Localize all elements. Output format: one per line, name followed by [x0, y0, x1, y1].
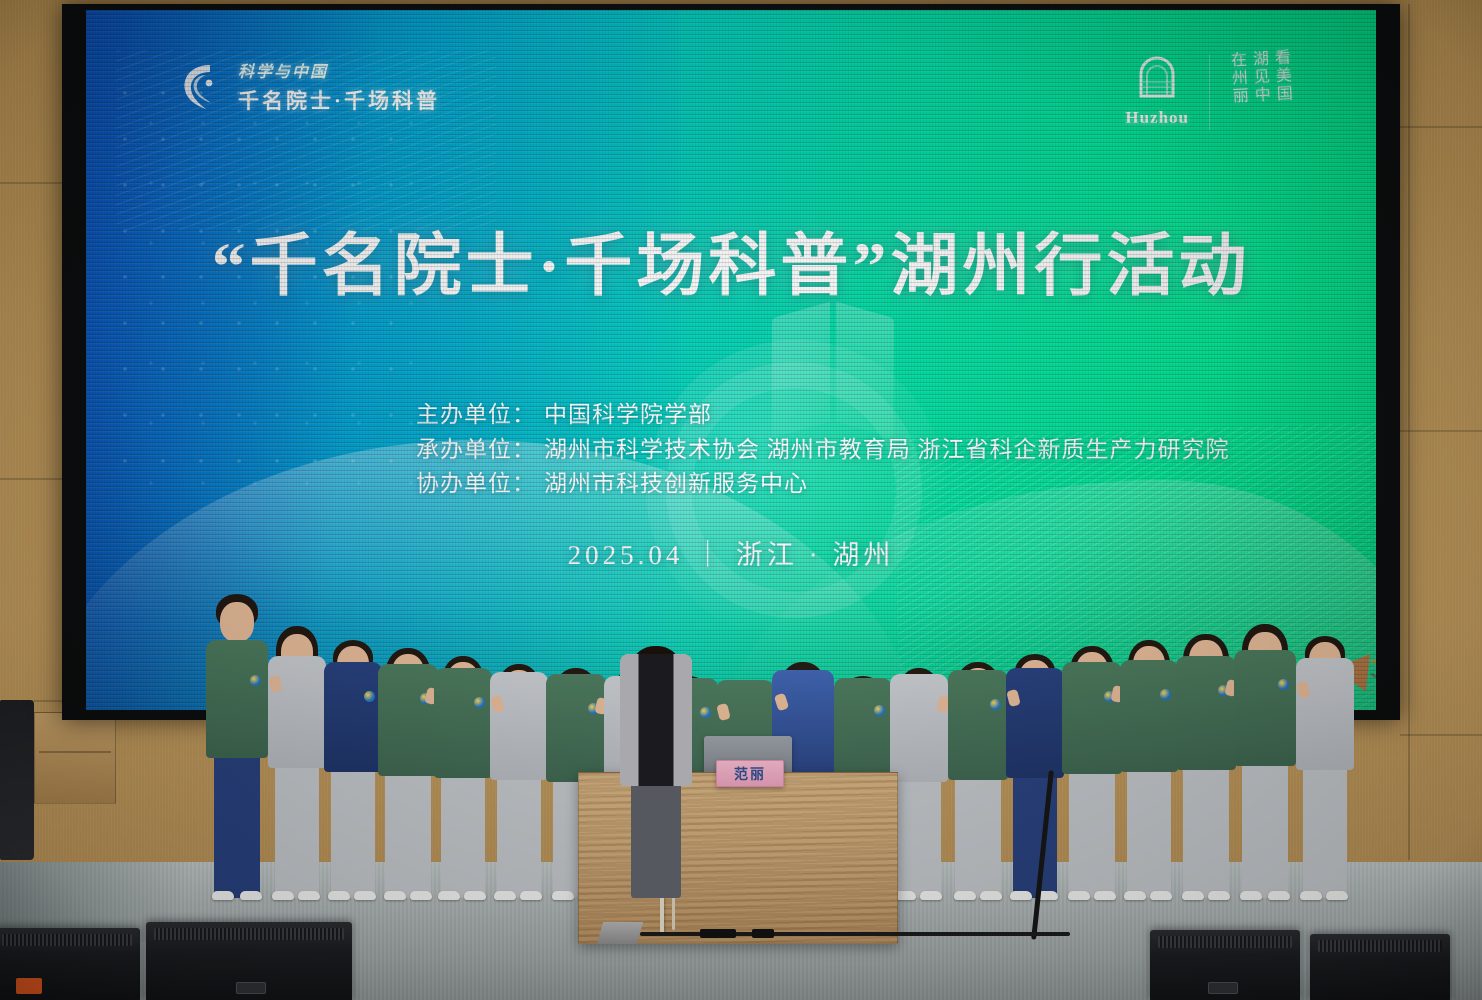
- legs: [1183, 762, 1229, 898]
- seal-char: 见: [1252, 69, 1273, 87]
- torso: [268, 656, 326, 768]
- torso: [948, 670, 1008, 780]
- legs: [1242, 758, 1288, 898]
- campaign-logo-bottom-text: 千名院士·千场科普: [238, 85, 440, 115]
- organizer-block: 主办单位： 中国科学院学部 承办单位： 湖州市科学技术协会 湖州市教育局 浙江省…: [416, 398, 1230, 502]
- legs: [497, 772, 541, 898]
- speaker-badge: [1208, 982, 1238, 994]
- wall-seam: [0, 182, 62, 184]
- shoe: [1010, 891, 1032, 900]
- stage-monitor-speaker: [1310, 934, 1450, 1000]
- s-swirl-icon: [176, 59, 228, 115]
- shoe: [494, 891, 516, 900]
- shoe: [354, 891, 376, 900]
- shoe: [1326, 891, 1348, 900]
- seal-char: 州: [1230, 70, 1251, 88]
- slide-title: “千名院士·千场科普”湖州行活动: [86, 210, 1376, 309]
- school-badge-icon: [1278, 679, 1289, 690]
- school-badge-icon: [250, 675, 261, 686]
- speaker-grille: [154, 928, 344, 940]
- campaign-logo: 科学与中国 千名院士·千场科普: [176, 58, 440, 115]
- presenter: [620, 612, 692, 898]
- shoe: [298, 891, 320, 900]
- legs: [331, 764, 375, 898]
- speaker-brand-logo: [16, 978, 42, 994]
- legs: [214, 748, 260, 898]
- torso: [1062, 662, 1122, 774]
- shoe: [1182, 891, 1204, 900]
- school-badge-icon: [474, 697, 485, 708]
- torso: [546, 674, 606, 782]
- shoe: [980, 891, 1002, 900]
- legs: [1303, 762, 1347, 898]
- seal-char: 国: [1274, 86, 1295, 104]
- person: [1006, 618, 1064, 898]
- person: [1234, 598, 1296, 898]
- legs: [385, 768, 431, 898]
- person: [206, 586, 268, 898]
- organizer-value: 湖州市科技创新服务中心: [544, 467, 808, 502]
- speaker-grille: [1158, 936, 1292, 948]
- person: [1296, 606, 1354, 898]
- organizer-label: 主办单位：: [416, 398, 536, 433]
- cable-connector: [752, 929, 774, 938]
- person: [890, 626, 948, 898]
- organizer-row: 承办单位： 湖州市科学技术协会 湖州市教育局 浙江省科企新质生产力研究院: [416, 433, 1230, 468]
- legs: [1127, 764, 1171, 898]
- seal-char: 美: [1274, 68, 1295, 86]
- shoe: [328, 891, 350, 900]
- legs: [275, 760, 319, 898]
- equipment-base: [597, 922, 643, 944]
- speaker-grille: [2, 934, 132, 946]
- side-cabinet-dark: [0, 700, 34, 860]
- legs: [631, 778, 681, 898]
- seal-char: 中: [1253, 87, 1274, 105]
- legs: [441, 770, 485, 898]
- calligraphy-seal: 在 湖 看 州 见 美 丽 中 国: [1229, 50, 1296, 106]
- stage-monitor-speaker: [146, 922, 352, 1000]
- organizer-row: 主办单位： 中国科学院学部: [416, 398, 1230, 433]
- torso: [434, 668, 492, 778]
- organizer-label: 协办单位：: [416, 467, 536, 502]
- person: [1062, 612, 1122, 898]
- torso: [1234, 650, 1296, 766]
- torso: [324, 662, 382, 772]
- wall-seam: [1400, 734, 1482, 736]
- torso: [1296, 658, 1354, 770]
- school-badge-icon: [364, 691, 375, 702]
- shoe: [954, 891, 976, 900]
- person: [1120, 608, 1178, 898]
- seal-char: 看: [1273, 50, 1294, 68]
- person: [490, 624, 548, 898]
- shoe: [240, 891, 262, 900]
- person: [324, 612, 382, 898]
- person: [378, 616, 438, 898]
- stage-photo-scene: 科学与中国 千名院士·千场科普 Huzhou: [0, 0, 1482, 1000]
- school-badge-icon: [990, 699, 1001, 710]
- shoe: [272, 891, 294, 900]
- stage-monitor-speaker: [0, 928, 140, 1000]
- shoe: [410, 891, 432, 900]
- shoe: [1150, 891, 1172, 900]
- torso: [834, 678, 892, 784]
- torso: [378, 664, 438, 776]
- cable-connector: [700, 929, 736, 938]
- shoe: [520, 891, 542, 900]
- campaign-logo-top-text: 科学与中国: [238, 58, 440, 82]
- legs: [1069, 766, 1115, 898]
- name-placard-label: 范丽: [734, 764, 766, 784]
- seal-char: 丽: [1231, 88, 1252, 106]
- school-badge-icon: [700, 707, 711, 718]
- shoe: [1268, 891, 1290, 900]
- campaign-logo-text: 科学与中国 千名院士·千场科普: [238, 58, 440, 115]
- wall-seam: [1408, 4, 1410, 860]
- logo-divider: [1209, 54, 1210, 130]
- shoe: [1300, 891, 1322, 900]
- speaker-badge: [236, 982, 266, 994]
- shoe: [384, 891, 406, 900]
- shoe: [920, 891, 942, 900]
- huzhou-logo-label: Huzhou: [1125, 108, 1189, 128]
- school-badge-icon: [874, 705, 885, 716]
- legs: [897, 774, 941, 898]
- speaker-grille: [1318, 940, 1442, 952]
- person: [268, 606, 326, 898]
- wall-seam: [0, 478, 62, 480]
- torso: [206, 640, 268, 758]
- shoe: [552, 891, 574, 900]
- person: [1176, 604, 1236, 898]
- shoe: [1208, 891, 1230, 900]
- name-placard: 范丽: [716, 760, 784, 787]
- torso: [1120, 660, 1178, 772]
- person: [434, 620, 492, 898]
- torso: [890, 674, 948, 782]
- torso: [620, 654, 692, 786]
- wall-seam: [1400, 126, 1482, 128]
- city-logo-group: Huzhou 在 湖 看 州 见 美 丽 中 国: [1125, 52, 1294, 130]
- head: [220, 602, 254, 642]
- shoe: [212, 891, 234, 900]
- side-cabinet-wood: [34, 712, 116, 804]
- shoe: [1094, 891, 1116, 900]
- torso: [1176, 656, 1236, 770]
- shoe: [1124, 891, 1146, 900]
- torso: [1006, 668, 1064, 778]
- shoe: [438, 891, 460, 900]
- organizer-value: 中国科学院学部: [544, 398, 712, 433]
- seal-char: 湖: [1251, 52, 1272, 70]
- organizer-row: 协办单位： 湖州市科技创新服务中心: [416, 467, 1230, 502]
- school-badge-icon: [1160, 689, 1171, 700]
- person: [948, 622, 1008, 898]
- torso: [490, 672, 548, 780]
- organizer-label: 承办单位：: [416, 433, 536, 468]
- legs: [955, 772, 1001, 898]
- shoe: [1068, 891, 1090, 900]
- huzhou-arch-bridge-icon: [1135, 52, 1179, 104]
- organizer-value: 湖州市科学技术协会 湖州市教育局 浙江省科企新质生产力研究院: [544, 433, 1230, 468]
- shoe: [1240, 891, 1262, 900]
- stage-monitor-speaker: [1150, 930, 1300, 1000]
- shoe: [464, 891, 486, 900]
- seal-char: 在: [1229, 53, 1250, 71]
- huzhou-logo: Huzhou: [1125, 52, 1189, 128]
- wall-seam: [1400, 430, 1482, 432]
